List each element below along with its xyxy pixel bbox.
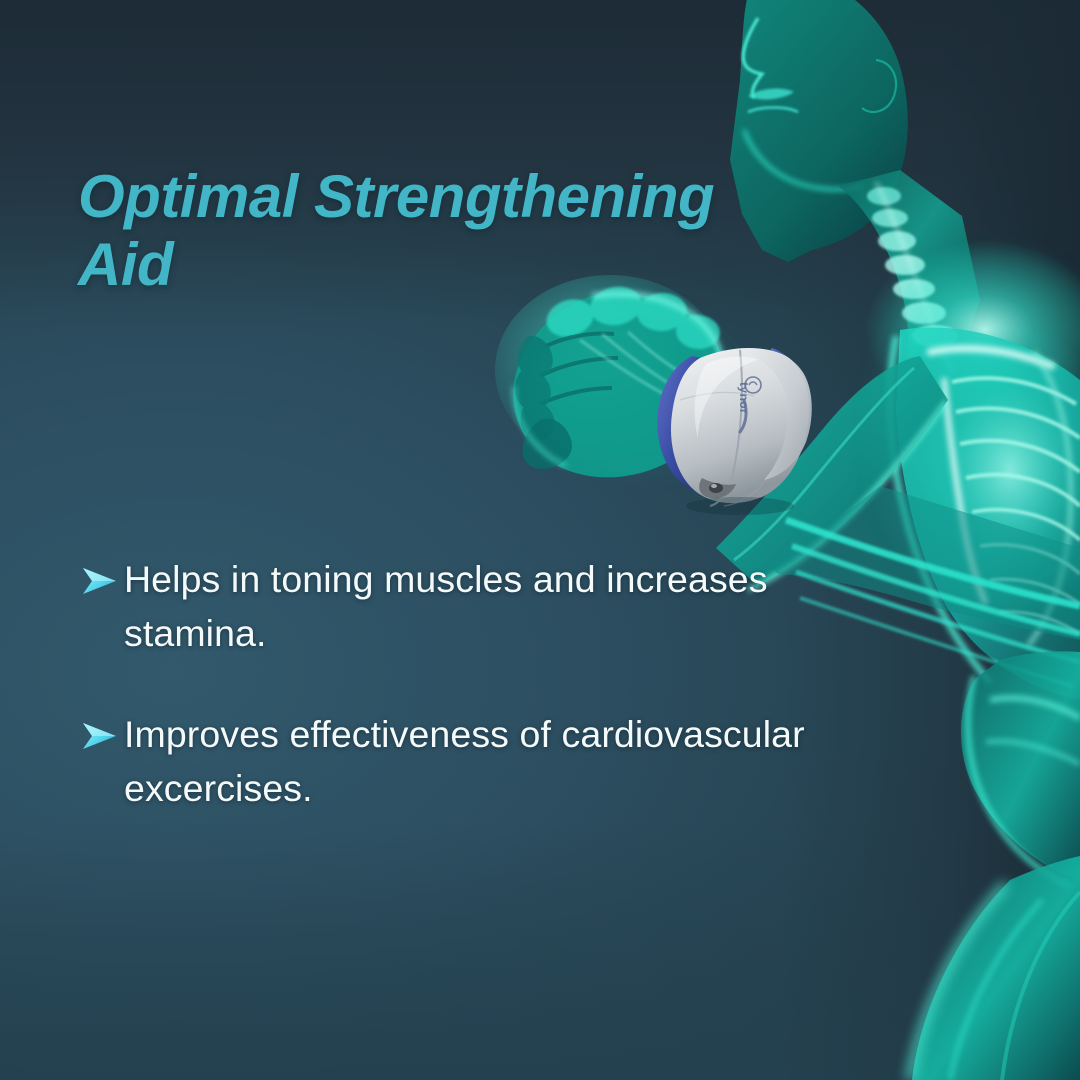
xray-runner-illustration (0, 0, 1080, 1080)
arrowhead-bullet-icon (78, 716, 120, 756)
hip-pelvis (961, 651, 1080, 886)
list-item-label: Helps in toning muscles and increases st… (124, 552, 838, 661)
product-wrist-weight: tynor (640, 338, 840, 518)
feature-list: Helps in toning muscles and increases st… (78, 552, 838, 816)
list-item: Improves effectiveness of cardiovascular… (78, 707, 838, 816)
list-item-label: Improves effectiveness of cardiovascular… (124, 707, 838, 816)
list-item: Helps in toning muscles and increases st… (78, 552, 838, 661)
promo-banner: tynor Optimal Strengthening Aid (0, 0, 1080, 1080)
brand-label: tynor (737, 382, 751, 414)
thigh (910, 856, 1080, 1080)
page-title: Optimal Strengthening Aid (78, 163, 838, 299)
arrowhead-bullet-icon (78, 561, 120, 601)
